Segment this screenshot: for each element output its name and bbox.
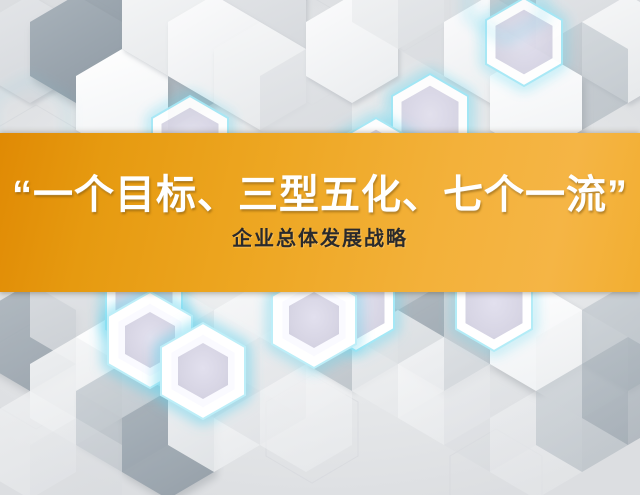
page-title: “一个目标、三型五化、七个一流” — [12, 174, 628, 217]
slide-canvas: “一个目标、三型五化、七个一流” 企业总体发展战略 — [0, 0, 640, 495]
title-banner: “一个目标、三型五化、七个一流” 企业总体发展战略 — [0, 133, 640, 292]
page-subtitle: 企业总体发展战略 — [232, 227, 408, 251]
